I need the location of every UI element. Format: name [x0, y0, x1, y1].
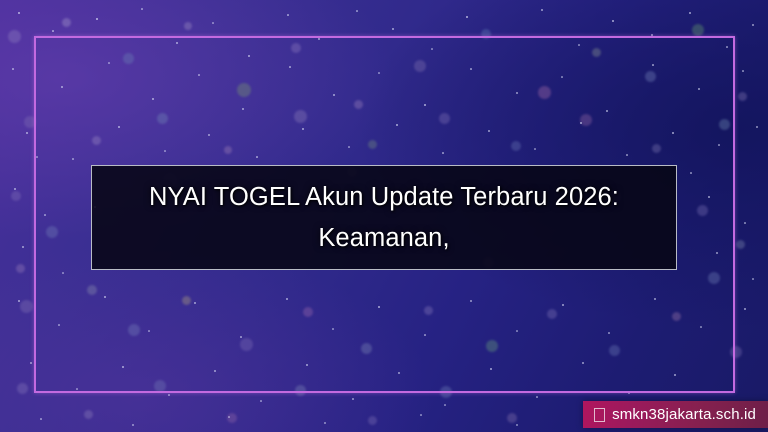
star-dot — [141, 8, 143, 10]
star-dot — [752, 24, 754, 26]
star-dot — [744, 222, 746, 224]
star-dot — [228, 416, 230, 418]
title-card-panel: NYAI TOGEL Akun Update Terbaru 2026: Kea… — [91, 165, 677, 270]
bokeh-circle — [62, 18, 71, 27]
star-dot — [612, 20, 614, 22]
star-dot — [12, 68, 14, 70]
bokeh-circle — [16, 264, 25, 273]
star-dot — [18, 12, 20, 14]
star-dot — [420, 414, 422, 416]
star-dot — [40, 418, 42, 420]
page-title: NYAI TOGEL Akun Update Terbaru 2026: Kea… — [149, 177, 619, 259]
star-dot — [14, 188, 16, 190]
bokeh-circle — [11, 191, 21, 201]
bokeh-circle — [738, 92, 747, 101]
star-dot — [260, 400, 262, 402]
star-dot — [212, 22, 214, 24]
star-dot — [22, 246, 24, 248]
star-dot — [742, 70, 744, 72]
star-dot — [168, 394, 170, 396]
star-dot — [541, 9, 543, 11]
slide-canvas: NYAI TOGEL Akun Update Terbaru 2026: Kea… — [0, 0, 768, 432]
domain-badge-label: smkn38jakarta.sch.id — [612, 407, 756, 422]
star-dot — [52, 30, 54, 32]
star-dot — [516, 424, 518, 426]
star-dot — [752, 278, 754, 280]
star-dot — [392, 28, 394, 30]
bokeh-circle — [8, 30, 21, 43]
star-dot — [356, 10, 358, 12]
missing-glyph-box-icon — [594, 408, 605, 422]
star-dot — [689, 12, 691, 14]
star-dot — [96, 18, 98, 20]
star-dot — [756, 126, 758, 128]
star-dot — [132, 424, 134, 426]
bokeh-circle — [736, 240, 745, 249]
star-dot — [352, 398, 354, 400]
bokeh-circle — [20, 300, 33, 313]
bokeh-circle — [184, 22, 192, 30]
star-dot — [287, 14, 289, 16]
star-dot — [324, 422, 326, 424]
star-dot — [26, 132, 28, 134]
star-dot — [536, 396, 538, 398]
bokeh-circle — [17, 383, 28, 394]
bokeh-circle — [692, 24, 704, 36]
bokeh-circle — [368, 416, 377, 425]
bokeh-circle — [84, 410, 93, 419]
star-dot — [18, 300, 20, 302]
bokeh-circle — [507, 413, 517, 423]
star-dot — [30, 362, 32, 364]
star-dot — [744, 308, 746, 310]
domain-watermark-badge[interactable]: smkn38jakarta.sch.id — [583, 401, 768, 428]
star-dot — [444, 404, 446, 406]
star-dot — [466, 16, 468, 18]
bokeh-circle — [227, 413, 237, 423]
